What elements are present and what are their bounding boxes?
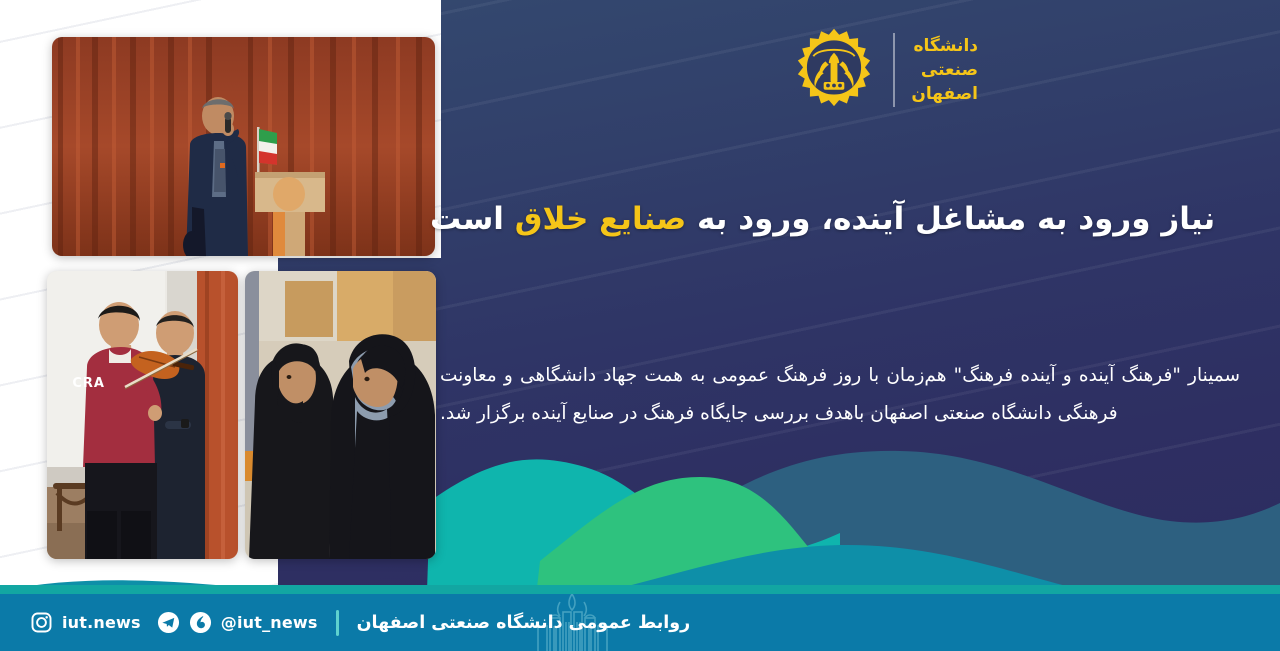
logo-line-3: اصفهان <box>911 82 978 106</box>
photo-violin-art: CRA <box>47 271 238 559</box>
headline-accent: صنایع خلاق <box>515 201 686 237</box>
footer-bar: iut.news @iut_news روابط عمومی دانشگاه ص… <box>0 594 1280 651</box>
public-relations-label: روابط عمومی دانشگاه صنعتی اصفهان <box>357 613 691 633</box>
audience-person-1 <box>249 343 334 559</box>
instagram-account[interactable]: iut.news <box>30 611 141 634</box>
telegram-icon[interactable] <box>157 611 180 634</box>
photo-speaker-podium-art <box>52 37 435 256</box>
svg-text:CRA: CRA <box>72 376 105 391</box>
logo-line-2: صنعتی <box>911 58 978 82</box>
footer-teal-strip <box>0 585 1280 594</box>
news-graphic-canvas: CRA <box>0 0 1280 651</box>
photo-violin-performance: CRA <box>47 271 238 559</box>
university-logo: دانشگاه صنعتی اصفهان <box>791 27 978 113</box>
photo-speaker-podium <box>52 37 435 256</box>
messenger-handle[interactable]: @iut_news <box>221 613 318 632</box>
instagram-handle[interactable]: iut.news <box>62 613 141 632</box>
eitaa-icon[interactable] <box>189 611 212 634</box>
logo-line-1: دانشگاه <box>911 34 978 58</box>
photo-audience-art <box>245 271 436 559</box>
messenger-accounts[interactable]: @iut_news <box>157 611 318 634</box>
article-summary: سمینار "فرهنگ آینده و آینده فرهنگ" هم‌زم… <box>440 357 1240 433</box>
logo-wordmark: دانشگاه صنعتی اصفهان <box>895 34 978 106</box>
photo-audience-women <box>245 271 436 559</box>
page-title: نیاز ورود به مشاغل آینده، ورود به صنایع … <box>430 196 1240 243</box>
headline-part-2: است <box>430 201 515 237</box>
logo-divider <box>893 33 895 107</box>
instagram-icon[interactable] <box>30 611 53 634</box>
headline-part-1: نیاز ورود به مشاغل آینده، ورود به <box>686 201 1215 237</box>
iut-gear-emblem-icon <box>791 27 877 113</box>
footer-divider <box>336 610 339 636</box>
